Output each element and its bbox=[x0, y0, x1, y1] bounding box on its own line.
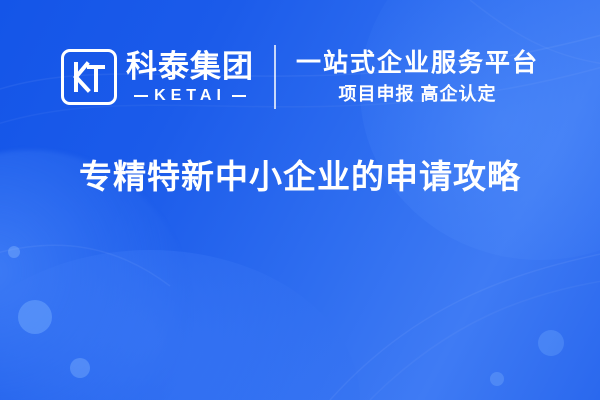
vertical-divider bbox=[274, 45, 276, 109]
brand-logo: 科泰集团 KETAI bbox=[61, 49, 254, 105]
wordmark-rule-left bbox=[134, 95, 148, 97]
brand-name-en: KETAI bbox=[154, 88, 226, 104]
brand-wordmark: 科泰集团 KETAI bbox=[126, 51, 254, 104]
promo-banner: 科泰集团 KETAI 一站式企业服务平台 项目申报 高企认定 专精特新中小企业的… bbox=[0, 0, 600, 400]
slogan-primary: 一站式企业服务平台 bbox=[296, 51, 539, 76]
banner-headline: 专精特新中小企业的申请攻略 bbox=[0, 150, 600, 198]
slogan-secondary: 项目申报 高企认定 bbox=[296, 85, 539, 103]
kt-letters-icon bbox=[72, 60, 106, 94]
banner-header: 科泰集团 KETAI 一站式企业服务平台 项目申报 高企认定 bbox=[0, 34, 600, 120]
wordmark-rule-right bbox=[232, 95, 246, 97]
kt-monogram-icon bbox=[61, 49, 117, 105]
brand-name-cn: 科泰集团 bbox=[126, 51, 254, 82]
brand-name-en-row: KETAI bbox=[134, 88, 246, 104]
slogan-block: 一站式企业服务平台 项目申报 高企认定 bbox=[296, 51, 539, 103]
